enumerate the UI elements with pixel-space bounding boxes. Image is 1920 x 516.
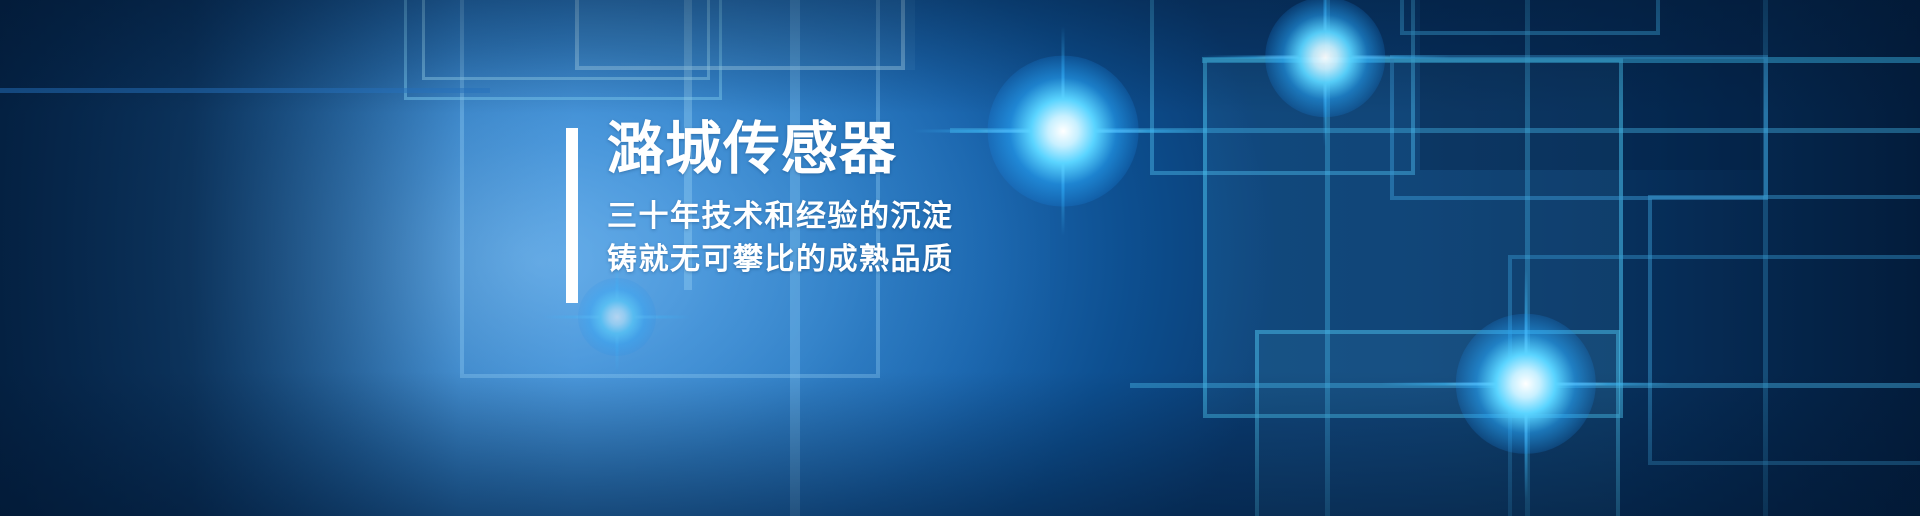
flare-horizontal-beam [913,130,1213,133]
flare-vertical-beam [1525,269,1528,499]
subtitle-line-1: 三十年技术和经验的沉淀 [607,196,954,239]
headline-text-column: 潞城传感器 三十年技术和经验的沉淀 铸就无可攀比的成熟品质 [607,120,954,281]
lens-flare-layer [0,0,1920,516]
flare-core [1456,314,1596,454]
flare-horizontal-beam [1381,383,1671,386]
subtitle-group: 三十年技术和经验的沉淀 铸就无可攀比的成熟品质 [607,196,954,281]
flare-horizontal-beam [542,316,692,319]
headline-block: 潞城传感器 三十年技术和经验的沉淀 铸就无可攀比的成熟品质 [566,120,954,303]
hero-banner: 潞城传感器 三十年技术和经验的沉淀 铸就无可攀比的成熟品质 [0,0,1920,516]
white-vertical-accent-bar [566,128,578,303]
flare-core [1265,0,1385,117]
flare-vertical-beam [1062,26,1065,236]
flare-horizontal-beam [1200,56,1450,59]
flare-core [988,56,1139,207]
subtitle-line-2: 铸就无可攀比的成熟品质 [607,239,954,282]
page-title: 潞城传感器 [607,120,954,178]
flare-vertical-beam [1324,0,1327,147]
